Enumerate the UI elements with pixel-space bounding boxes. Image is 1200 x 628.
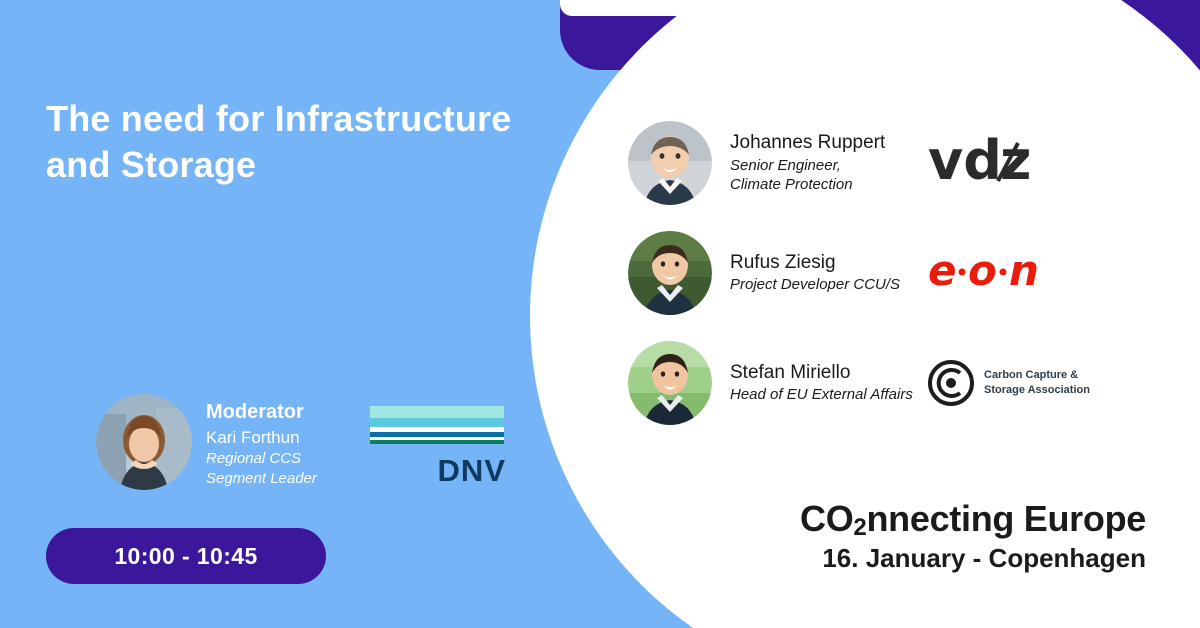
eon-logo: e o n: [928, 218, 1046, 328]
list-item: Stefan Miriello Head of EU External Affa…: [628, 328, 1148, 438]
page-title: The need for Infrastructure and Storage: [46, 96, 516, 188]
avatar: [96, 394, 192, 490]
speaker-text: Johannes Ruppert Senior Engineer, Climat…: [730, 131, 940, 195]
speaker-role-line2: Climate Protection: [730, 175, 940, 195]
promo-banner: The need for Infrastructure and Storage: [0, 0, 1200, 628]
speaker-name: Stefan Miriello: [730, 361, 940, 386]
avatar: [628, 231, 712, 315]
event-name-pre: CO: [800, 498, 853, 539]
speaker-role-line1: Senior Engineer,: [730, 156, 940, 176]
white-top-strip: [560, 0, 810, 16]
speaker-name: Johannes Ruppert: [730, 131, 940, 156]
moderator-role-line2: Segment Leader: [206, 469, 317, 489]
speaker-name: Rufus Ziesig: [730, 251, 940, 276]
dnv-logo: DNV: [370, 406, 506, 486]
avatar: [628, 341, 712, 425]
svg-text:vd: vd: [928, 135, 1002, 191]
vdz-logo-icon: vd z: [928, 135, 1046, 191]
moderator-label: Moderator: [206, 400, 317, 425]
ccsa-logo: Carbon Capture & Storage Association: [928, 328, 1090, 438]
moderator-block: Moderator Kari Forthun Regional CCS Segm…: [96, 394, 317, 490]
svg-text:o: o: [968, 249, 997, 295]
speaker-role-line1: Head of EU External Affairs: [730, 385, 940, 405]
speakers-list: Johannes Ruppert Senior Engineer, Climat…: [628, 108, 1148, 438]
svg-text:n: n: [1009, 249, 1039, 295]
list-item: Johannes Ruppert Senior Engineer, Climat…: [628, 108, 1148, 218]
list-item: Rufus Ziesig Project Developer CCU/S e o…: [628, 218, 1148, 328]
time-badge: 10:00 - 10:45: [46, 528, 326, 584]
eon-logo-icon: e o n: [928, 249, 1046, 297]
moderator-name: Kari Forthun: [206, 427, 317, 449]
moderator-text: Moderator Kari Forthun Regional CCS Segm…: [206, 400, 317, 489]
event-subtitle: 16. January - Copenhagen: [800, 542, 1146, 575]
speaker-text: Rufus Ziesig Project Developer CCU/S: [730, 251, 940, 295]
event-name: CO2nnecting Europe: [800, 498, 1146, 540]
event-name-sub: 2: [853, 514, 866, 541]
event-name-post: nnecting Europe: [866, 498, 1146, 539]
moderator-role-line1: Regional CCS: [206, 449, 317, 469]
ccsa-line2: Storage Association: [984, 383, 1090, 398]
dnv-bars-icon: [370, 406, 504, 444]
event-title-block: CO2nnecting Europe 16. January - Copenha…: [800, 498, 1146, 575]
svg-text:e: e: [928, 249, 957, 295]
ccsa-line1: Carbon Capture &: [984, 368, 1090, 383]
vdz-logo: vd z: [928, 108, 1046, 218]
speaker-text: Stefan Miriello Head of EU External Affa…: [730, 361, 940, 405]
avatar: [628, 121, 712, 205]
ccsa-wordmark: Carbon Capture & Storage Association: [984, 368, 1090, 398]
speaker-role-line1: Project Developer CCU/S: [730, 275, 940, 295]
ccsa-mark-icon: [928, 360, 974, 406]
dnv-wordmark: DNV: [370, 455, 506, 486]
